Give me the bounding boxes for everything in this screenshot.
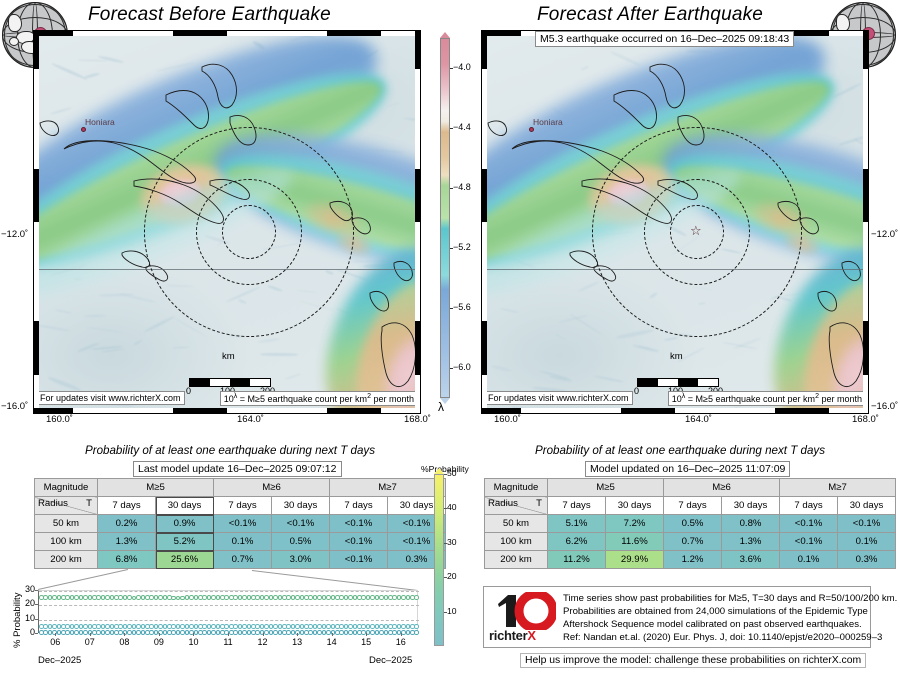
lambda-colorbar-tick: −4.0 (453, 62, 471, 72)
prob-cell[interactable]: 0.7% (664, 533, 722, 551)
header-period-6: 30 days (838, 497, 896, 515)
lambda-colorbar-top-arrow (440, 32, 450, 38)
lambda-colorbar-tickmark (450, 248, 453, 249)
lat-tick-right-1: −12.0˚ (871, 229, 898, 240)
y-tickmark (35, 590, 38, 591)
table-header-magnitude: MagnitudeM≥5M≥6M≥7 (35, 479, 446, 497)
prob-cell[interactable]: 6.2% (548, 533, 606, 551)
prob-cell[interactable]: <0.1% (780, 515, 838, 533)
timeseries-marker (83, 624, 88, 629)
prob-cell[interactable]: <0.1% (838, 515, 896, 533)
lambda-colorbar-tick: −4.8 (453, 182, 471, 192)
timeseries-ylabel: % Probability (12, 593, 23, 648)
richterx-line-3: Aftershock Sequence model calibrated on … (563, 619, 862, 632)
prob-cell[interactable]: 0.1% (214, 533, 272, 551)
prob-colorbar-tick: 30 (447, 537, 457, 547)
prob-cell[interactable]: <0.1% (214, 515, 272, 533)
prob-cell[interactable]: 29.9% (606, 551, 664, 569)
lambda-colorbar-label: λ (438, 400, 444, 414)
richterx-footer-cta[interactable]: Help us improve the model: challenge the… (520, 653, 866, 668)
prob-cell[interactable]: 0.5% (664, 515, 722, 533)
x-tickmark (297, 633, 298, 636)
timeseries-xlabel-left: Dec–2025 (38, 655, 81, 666)
lambda-colorbar-tickmark (450, 68, 453, 69)
map-footer-url[interactable]: For updates visit www.richterX.com (484, 391, 633, 405)
map-footer-legend: 10λ = M≥5 earthquake count per km2 per m… (220, 391, 418, 406)
lambda-colorbar-tickmark (450, 368, 453, 369)
x-tick-label: 11 (219, 637, 237, 647)
x-tickmark (228, 633, 229, 636)
richterx-line-2: Probabilities are obtained from 24,000 s… (563, 606, 868, 619)
prob-cell[interactable]: <0.1% (330, 515, 388, 533)
x-tick-label: 13 (288, 637, 306, 647)
scale-tick: 0 (186, 386, 191, 396)
header-radius-t-corner: RadiusT (35, 497, 98, 515)
prob-cell[interactable]: 0.9% (156, 515, 214, 533)
prob-cell[interactable]: 0.2% (98, 515, 156, 533)
prob-colorbar-label: %Probability (421, 464, 469, 474)
x-tick-label: 07 (81, 637, 99, 647)
prob-colorbar-tickmark (444, 474, 447, 475)
header-magnitude-2: M≥6 (214, 479, 330, 497)
x-tickmark (332, 633, 333, 636)
y-tickmark (35, 633, 38, 634)
lambda-colorbar-tickmark (450, 188, 453, 189)
prob-cell[interactable]: <0.1% (330, 533, 388, 551)
richterx-line-1: Time series show past probabilities for … (563, 593, 897, 606)
lon-tick-left-3: 168.0˚ (404, 414, 431, 425)
lambda-colorbar-tick: −4.4 (453, 122, 471, 132)
y-gridline (39, 591, 419, 592)
richterx-info-box: richterX Time series show past probabili… (483, 586, 871, 648)
x-tickmark (401, 633, 402, 636)
row-header-radius: 200 km (35, 551, 98, 569)
prob-cell[interactable]: 0.3% (838, 551, 896, 569)
prob-colorbar-tickmark (444, 508, 447, 509)
city-marker-dot (529, 127, 534, 132)
table-row[interactable]: 200 km6.8%25.6%0.7%3.0%<0.1%0.3% (35, 551, 446, 569)
y-gridline (39, 605, 419, 606)
x-tick-label: 16 (392, 637, 410, 647)
x-tickmark (90, 633, 91, 636)
lat-tick-left-2: −16.0˚ (1, 401, 28, 412)
timeseries-marker (273, 630, 278, 635)
lambda-colorbar-tickmark (450, 308, 453, 309)
header-magnitude-3: M≥7 (780, 479, 896, 497)
prob-colorbar-tick: 10 (447, 606, 457, 616)
x-tick-label: 14 (323, 637, 341, 647)
timeseries-marker (273, 624, 278, 629)
epicenter-star-icon: ☆ (690, 224, 702, 237)
table-row[interactable]: 50 km5.1%7.2%0.5%0.8%<0.1%<0.1% (485, 515, 896, 533)
lon-tick-right-2: 164.0˚ (685, 414, 712, 425)
prob-cell[interactable]: 11.2% (548, 551, 606, 569)
prob-cell[interactable]: 3.0% (272, 551, 330, 569)
richterx-line-4: Ref: Nandan et.al. (2020) Eur. Phys. J, … (563, 632, 882, 645)
prob-colorbar-tick: 50 (447, 468, 457, 478)
y-gridline (39, 620, 419, 621)
header-magnitude-1: M≥5 (548, 479, 664, 497)
header-period-1: 7 days (98, 497, 156, 515)
header-magnitude-3: M≥7 (330, 479, 446, 497)
prob-colorbar-tickmark (444, 543, 447, 544)
x-tickmark (55, 633, 56, 636)
city-marker-dot (81, 127, 86, 132)
prob-cell[interactable]: 1.3% (722, 533, 780, 551)
lon-tick-left-1: 160.0˚ (46, 414, 73, 425)
right-table-title: Probability of at least one earthquake d… (490, 444, 870, 457)
header-period-4: 30 days (272, 497, 330, 515)
row-header-radius: 50 km (485, 515, 548, 533)
x-tickmark (366, 633, 367, 636)
header-period-3: 7 days (664, 497, 722, 515)
prob-cell[interactable]: 3.6% (722, 551, 780, 569)
prob-colorbar-tickmark (444, 612, 447, 613)
richterx-wordmark: richterX (489, 628, 536, 643)
lat-tick-right-2: −16.0˚ (871, 401, 898, 412)
row-header-radius: 50 km (35, 515, 98, 533)
x-tick-label: 08 (115, 637, 133, 647)
prob-cell[interactable]: 1.2% (664, 551, 722, 569)
header-period-2: 30 days (156, 497, 214, 515)
y-tickmark (35, 604, 38, 605)
probability-table-before[interactable]: MagnitudeM≥5M≥6M≥7RadiusT7 days30 days7 … (34, 478, 446, 569)
prob-colorbar-tick: 20 (447, 571, 457, 581)
header-magnitude-2: M≥6 (664, 479, 780, 497)
lon-tick-right-1: 160.0˚ (494, 414, 521, 425)
prob-cell[interactable]: 0.5% (272, 533, 330, 551)
left-table-title: Probability of at least one earthquake d… (40, 444, 420, 457)
table-header-period: RadiusT7 days30 days7 days30 days7 days3… (35, 497, 446, 515)
event-banner: M5.3 earthquake occurred on 16–Dec–2025 … (535, 31, 794, 47)
prob-cell[interactable]: 0.1% (780, 551, 838, 569)
right-table-subtitle: Model updated on 16–Dec–2025 11:07:09 (585, 461, 790, 477)
prob-cell[interactable]: 0.7% (214, 551, 272, 569)
lambda-colorbar-tick: −5.6 (453, 302, 471, 312)
timeseries-marker (414, 630, 419, 635)
x-tick-label: 12 (254, 637, 272, 647)
header-magnitude-corner: Magnitude (485, 479, 548, 497)
timeseries-marker (83, 630, 88, 635)
forecast-map-before[interactable]: Honiarakm0100200For updates visit www.ri… (33, 30, 421, 414)
prob-cell[interactable]: 1.3% (98, 533, 156, 551)
lon-tick-left-2: 164.0˚ (237, 414, 264, 425)
lon-tick-right-3: 168.0˚ (852, 414, 879, 425)
header-period-3: 7 days (214, 497, 272, 515)
zoom-connector-left (38, 569, 128, 590)
header-period-5: 7 days (330, 497, 388, 515)
x-tickmark (193, 633, 194, 636)
table-row[interactable]: 200 km11.2%29.9%1.2%3.6%0.1%0.3% (485, 551, 896, 569)
prob-cell[interactable]: 11.6% (606, 533, 664, 551)
x-tickmark (159, 633, 160, 636)
prob-colorbar-top-arrow (434, 468, 444, 474)
lambda-colorbar-gradient (440, 38, 450, 398)
prob-cell[interactable]: 0.1% (838, 533, 896, 551)
right-panel-title: Forecast After Earthquake (537, 4, 763, 26)
city-label: Honiara (533, 117, 563, 127)
prob-colorbar-gradient (434, 474, 444, 646)
lambda-colorbar-tick: −6.0 (453, 362, 471, 372)
richterx-logo-icon (494, 592, 556, 630)
header-period-5: 7 days (780, 497, 838, 515)
header-radius-t-corner: RadiusT (485, 497, 548, 515)
prob-cell[interactable]: 25.6% (156, 551, 214, 569)
timeseries-marker (83, 595, 88, 600)
y-tickmark (35, 619, 38, 620)
lat-tick-left-1: −12.0˚ (1, 229, 28, 240)
scale-tick: 0 (634, 386, 639, 396)
x-tickmark (124, 633, 125, 636)
prob-cell[interactable]: 7.2% (606, 515, 664, 533)
prob-cell[interactable]: <0.1% (330, 551, 388, 569)
prob-cell[interactable]: 5.1% (548, 515, 606, 533)
prob-cell[interactable]: <0.1% (272, 515, 330, 533)
timeseries-marker (273, 595, 278, 600)
x-tick-label: 10 (184, 637, 202, 647)
header-magnitude-1: M≥5 (98, 479, 214, 497)
timeseries-plot-area (38, 590, 418, 633)
lambda-colorbar: −4.0−4.4−4.8−5.2−5.6−6.0 (440, 38, 450, 398)
x-tick-label: 06 (46, 637, 64, 647)
row-header-radius: 200 km (485, 551, 548, 569)
header-period-1: 7 days (548, 497, 606, 515)
table-row[interactable]: 50 km0.2%0.9%<0.1%<0.1%<0.1%<0.1% (35, 515, 446, 533)
scale-unit-label: km (670, 351, 683, 362)
prob-cell[interactable]: <0.1% (780, 533, 838, 551)
lambda-colorbar-tick: −5.2 (453, 242, 471, 252)
forecast-map-after[interactable]: ☆Honiarakm0100200For updates visit www.r… (481, 30, 869, 414)
left-table-subtitle: Last model update 16–Dec–2025 09:07:12 (133, 461, 342, 477)
prob-colorbar-tickmark (444, 577, 447, 578)
header-period-2: 30 days (606, 497, 664, 515)
prob-colorbar-tick: 40 (447, 502, 457, 512)
city-label: Honiara (85, 117, 115, 127)
prob-cell[interactable]: 5.2% (156, 533, 214, 551)
timeseries-marker (414, 595, 419, 600)
prob-colorbar: 5040302010 (434, 474, 444, 646)
zoom-connector-right (252, 570, 418, 591)
x-tick-label: 15 (357, 637, 375, 647)
table-header-period: RadiusT7 days30 days7 days30 days7 days3… (485, 497, 896, 515)
row-header-radius: 100 km (485, 533, 548, 551)
prob-cell[interactable]: 6.8% (98, 551, 156, 569)
header-period-4: 30 days (722, 497, 780, 515)
scale-unit-label: km (222, 351, 235, 362)
x-tick-label: 09 (150, 637, 168, 647)
timeseries-marker (414, 624, 419, 629)
lambda-colorbar-tickmark (450, 128, 453, 129)
table-row[interactable]: 100 km6.2%11.6%0.7%1.3%<0.1%0.1% (485, 533, 896, 551)
row-header-radius: 100 km (35, 533, 98, 551)
header-magnitude-corner: Magnitude (35, 479, 98, 497)
prob-cell[interactable]: 0.8% (722, 515, 780, 533)
probability-table-after[interactable]: MagnitudeM≥5M≥6M≥7RadiusT7 days30 days7 … (484, 478, 896, 569)
left-panel-title: Forecast Before Earthquake (88, 4, 331, 26)
table-header-magnitude: MagnitudeM≥5M≥6M≥7 (485, 479, 896, 497)
table-row[interactable]: 100 km1.3%5.2%0.1%0.5%<0.1%<0.1% (35, 533, 446, 551)
map-footer-url[interactable]: For updates visit www.richterX.com (36, 391, 185, 405)
timeseries-xlabel-right: Dec–2025 (369, 655, 412, 666)
x-tickmark (263, 633, 264, 636)
map-footer-legend: 10λ = M≥5 earthquake count per km2 per m… (668, 391, 866, 406)
